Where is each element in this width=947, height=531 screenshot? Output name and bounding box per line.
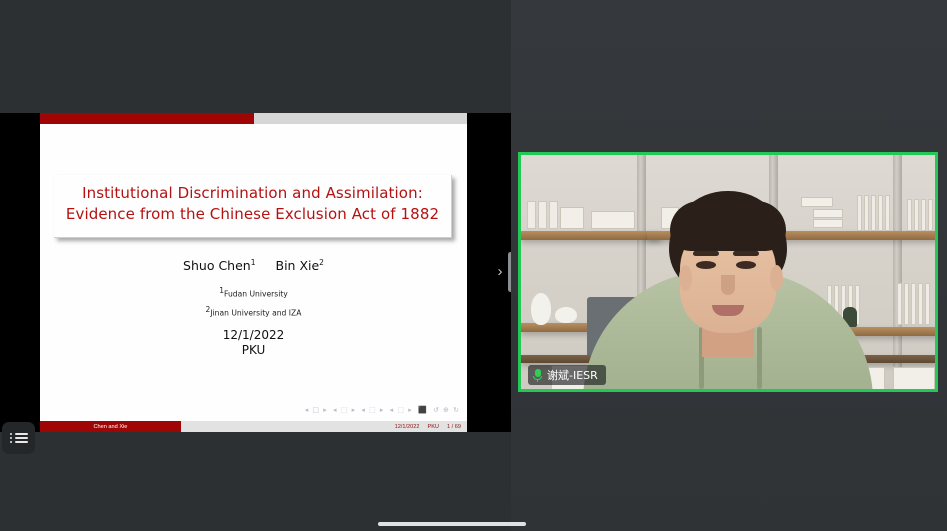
slide-top-bar-accent bbox=[40, 113, 254, 124]
person-brow-right bbox=[733, 251, 759, 256]
slide-top-bar bbox=[40, 113, 467, 124]
slide-footer-date: 12/1/2022 bbox=[395, 424, 420, 430]
person-eye-right bbox=[736, 261, 756, 269]
participant-video-frame bbox=[521, 155, 935, 389]
author-1-mark: 1 bbox=[251, 258, 256, 267]
person-brow-left bbox=[693, 251, 719, 256]
slide-footer-venue: PKU bbox=[427, 424, 439, 430]
slide-footer-meta: 12/1/2022 PKU 1 / 69 bbox=[181, 421, 467, 432]
affiliation-1-text: Fudan University bbox=[224, 290, 288, 299]
slide-footer-page: 1 / 69 bbox=[447, 424, 461, 430]
nav-symbol-slide[interactable]: ◂ □ ▸ bbox=[305, 406, 328, 414]
list-icon bbox=[10, 431, 28, 445]
slide-date: 12/1/2022 bbox=[40, 328, 467, 343]
nav-symbol-subsection[interactable]: ◂ ⬚ ▸ bbox=[361, 406, 384, 414]
author-1-name: Shuo Chen bbox=[183, 258, 251, 273]
zoom-meeting-window: Institutional Discrimination and Assimil… bbox=[0, 0, 947, 531]
participant-name: 谢斌-IESR bbox=[547, 367, 598, 383]
slide-title-line-1: Institutional Discrimination and Assimil… bbox=[58, 183, 447, 204]
person-nose bbox=[721, 275, 735, 295]
slide-title-line-2: Evidence from the Chinese Exclusion Act … bbox=[58, 204, 447, 225]
affiliation-2-text: Jinan University and IZA bbox=[210, 309, 301, 318]
person-ear-right bbox=[770, 265, 783, 291]
nav-symbol-section[interactable]: ◂ ⬚ ▸ bbox=[390, 406, 413, 414]
affiliation-2: 2Jinan University and IZA bbox=[40, 305, 467, 318]
person-ear-left bbox=[679, 265, 692, 291]
chevron-right-icon[interactable]: › bbox=[493, 262, 507, 282]
author-2-name: Bin Xie bbox=[276, 258, 320, 273]
slide-authors: Shuo Chen1Bin Xie2 bbox=[40, 258, 467, 273]
home-indicator bbox=[378, 522, 526, 526]
letterbox-left bbox=[0, 113, 40, 432]
slide-top-bar-gray bbox=[254, 113, 468, 124]
presentation-slide[interactable]: Institutional Discrimination and Assimil… bbox=[40, 113, 467, 432]
video-gallery-pane: 谢斌-IESR bbox=[511, 0, 947, 531]
author-2-mark: 2 bbox=[319, 258, 324, 267]
nav-symbol-doc[interactable]: ⬛ bbox=[418, 406, 428, 414]
person-fringe bbox=[670, 201, 786, 251]
slide-title-block: Institutional Discrimination and Assimil… bbox=[54, 175, 452, 238]
nav-symbol-frame[interactable]: ◂ ⬚ ▸ bbox=[333, 406, 356, 414]
microphone-unmuted-icon[interactable] bbox=[533, 369, 542, 382]
participant-video-tile[interactable]: 谢斌-IESR bbox=[518, 152, 938, 392]
slide-footer-bar: Chen and Xie 12/1/2022 PKU 1 / 69 bbox=[40, 421, 467, 432]
nav-symbol-back[interactable]: ↺ ⊕ ↻ bbox=[433, 406, 460, 414]
person-eye-left bbox=[696, 261, 716, 269]
participant-person bbox=[521, 155, 935, 389]
affiliation-1: 1Fudan University bbox=[40, 286, 467, 299]
beamer-navigation-symbols[interactable]: ◂ □ ▸ ◂ ⬚ ▸ ◂ ⬚ ▸ ◂ ⬚ ▸ ⬛ ↺ ⊕ ↻ bbox=[304, 406, 461, 414]
participant-name-tag: 谢斌-IESR bbox=[528, 365, 606, 385]
view-options-list-button[interactable] bbox=[2, 422, 35, 454]
shared-screen-pane: Institutional Discrimination and Assimil… bbox=[0, 0, 511, 531]
hoodie-drawstring-right bbox=[757, 327, 762, 389]
slide-venue: PKU bbox=[40, 343, 467, 358]
slide-footer-authors: Chen and Xie bbox=[40, 421, 181, 432]
slide-date-venue: 12/1/2022 PKU bbox=[40, 328, 467, 358]
